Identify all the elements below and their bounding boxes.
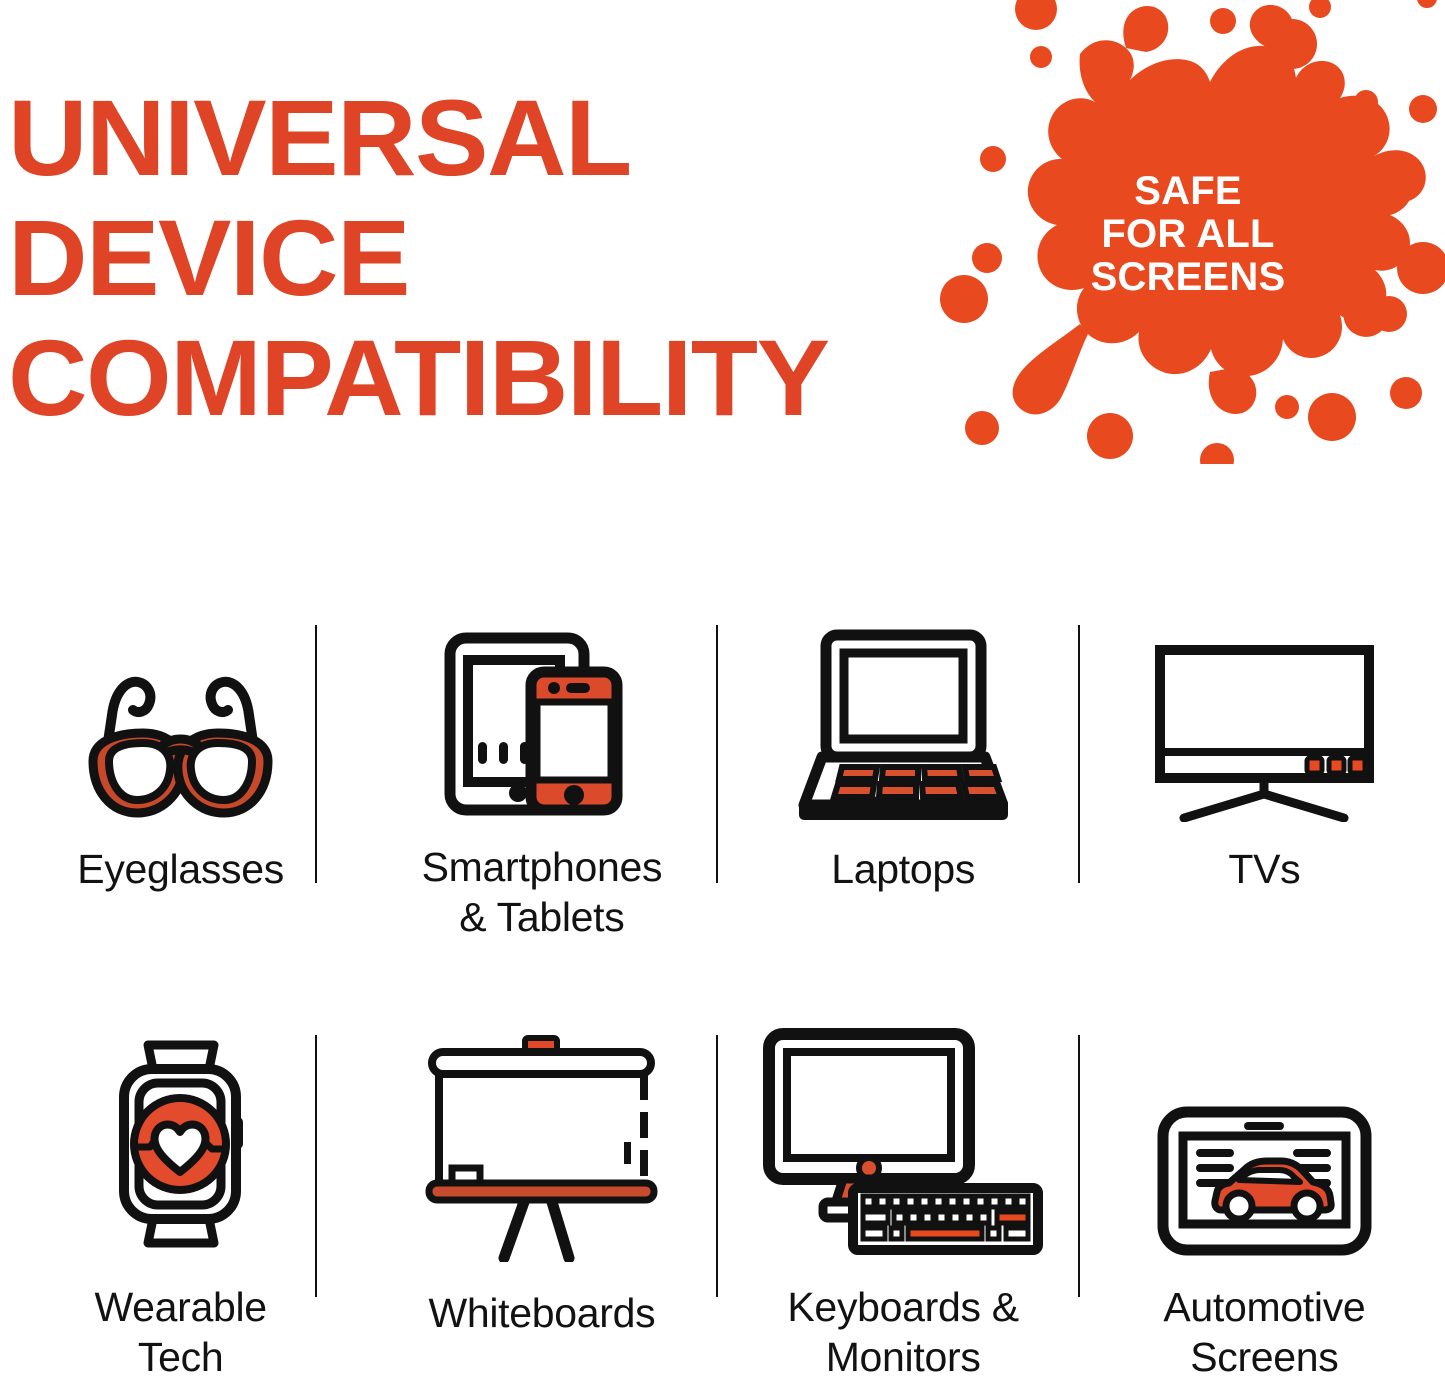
smartwatch-icon bbox=[106, 1022, 256, 1256]
safe-for-all-screens-badge: SAFE FOR ALL SCREENS bbox=[930, 0, 1445, 464]
whiteboard-icon bbox=[424, 1022, 659, 1262]
infographic-page: UNIVERSAL DEVICE COMPATIBILITY bbox=[0, 0, 1445, 1389]
device-tile-laptops[interactable]: Laptops bbox=[723, 612, 1084, 942]
device-label: Laptops bbox=[831, 844, 975, 894]
eyeglasses-icon bbox=[73, 612, 288, 822]
device-label: Eyeglasses bbox=[77, 844, 284, 894]
headline-line-1: UNIVERSAL bbox=[8, 78, 926, 198]
page-title: UNIVERSAL DEVICE COMPATIBILITY bbox=[8, 78, 908, 438]
device-label: Smartphones & Tablets bbox=[422, 842, 663, 942]
device-label: Automotive Screens bbox=[1163, 1282, 1365, 1382]
laptop-icon bbox=[798, 612, 1008, 822]
automotive-screen-icon bbox=[1157, 1022, 1372, 1256]
device-tile-eyeglasses[interactable]: Eyeglasses bbox=[0, 612, 361, 942]
device-tile-keyboards-monitors[interactable]: Keyboards & Monitors bbox=[723, 1022, 1084, 1382]
device-tile-tvs[interactable]: TVs bbox=[1084, 612, 1445, 942]
headline-line-2: DEVICE bbox=[8, 198, 926, 318]
device-row-2: Wearable Tech bbox=[0, 1022, 1445, 1382]
device-label: Keyboards & Monitors bbox=[787, 1282, 1018, 1382]
device-label: Wearable Tech bbox=[94, 1282, 266, 1382]
smartphone-tablet-icon bbox=[442, 612, 642, 820]
device-label: TVs bbox=[1228, 844, 1300, 894]
device-row-1: Eyeglasses bbox=[0, 612, 1445, 942]
device-tile-wearable-tech[interactable]: Wearable Tech bbox=[0, 1022, 361, 1382]
device-tile-automotive-screens[interactable]: Automotive Screens bbox=[1084, 1022, 1445, 1382]
keyboard-monitor-icon bbox=[761, 1022, 1046, 1256]
device-tile-whiteboards[interactable]: Whiteboards bbox=[361, 1022, 722, 1382]
headline-line-3: COMPATIBILITY bbox=[8, 318, 926, 438]
tv-icon bbox=[1152, 612, 1377, 822]
paint-splat-icon bbox=[930, 0, 1445, 464]
device-label: Whiteboards bbox=[428, 1288, 655, 1338]
device-tile-smartphones-tablets[interactable]: Smartphones & Tablets bbox=[361, 612, 722, 942]
